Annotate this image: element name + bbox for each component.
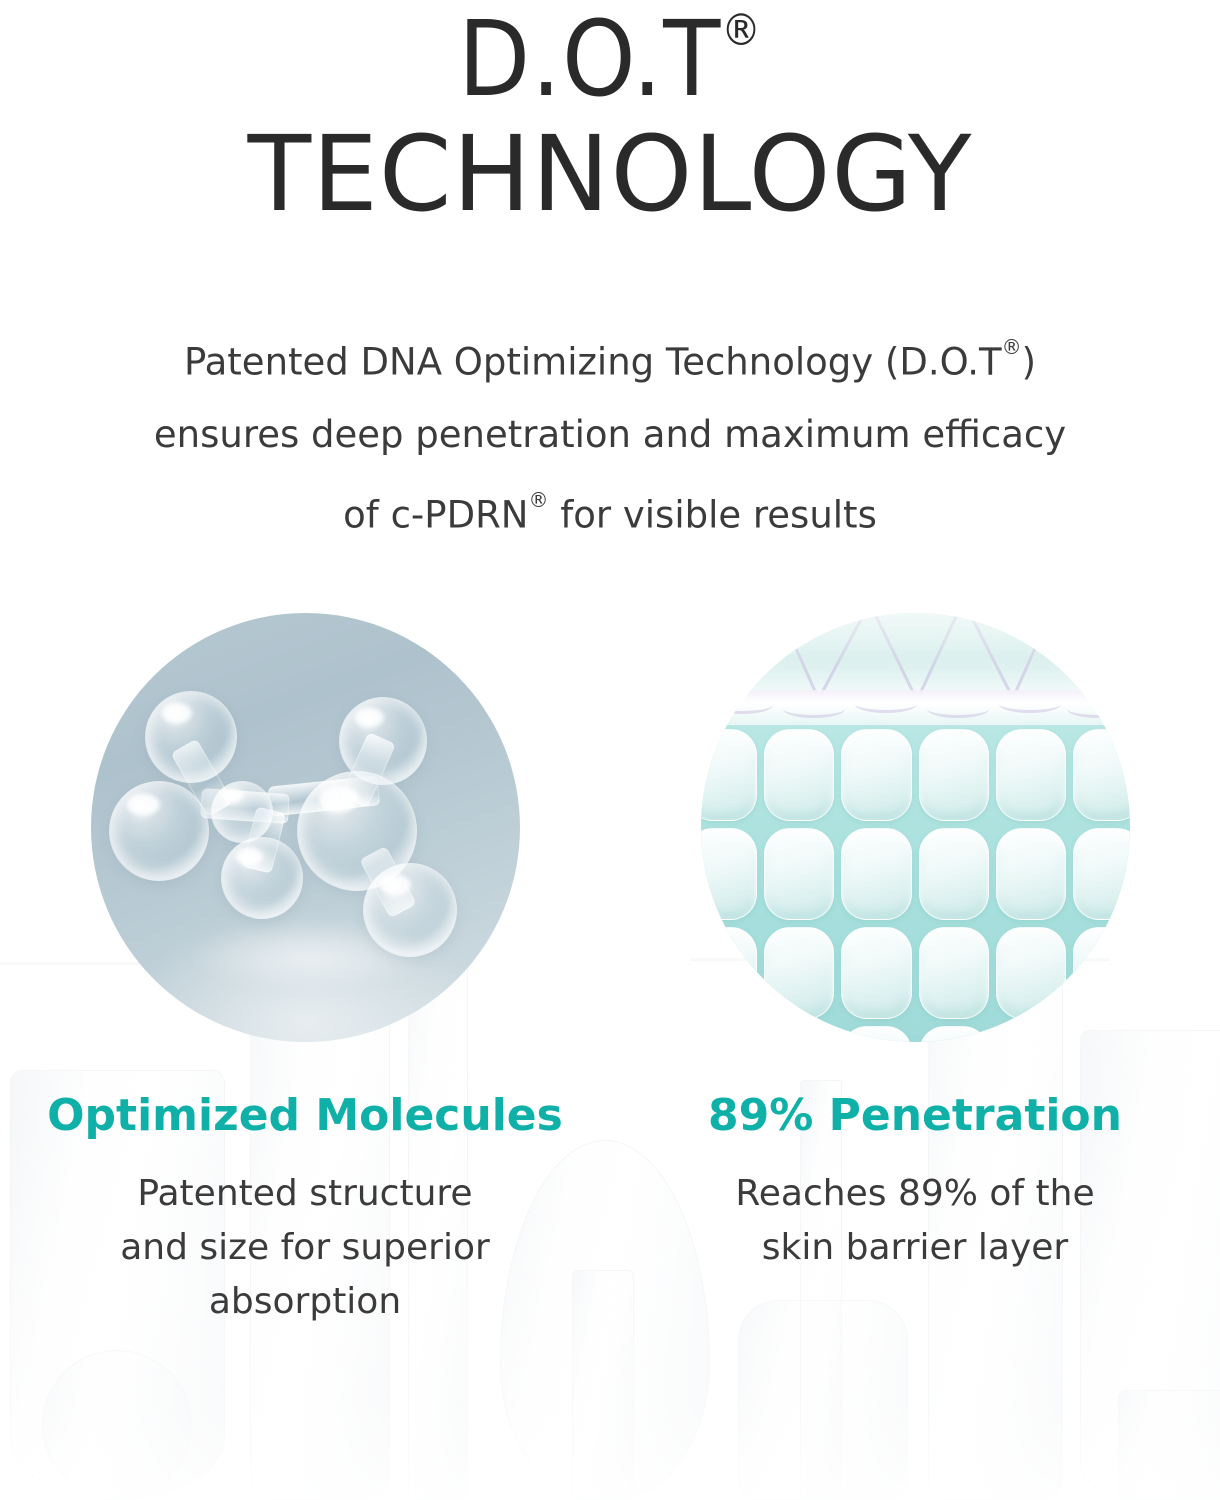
erlenmeyer-flask-neck <box>1118 1390 1220 1500</box>
transition-wave <box>999 695 1061 713</box>
feature-caption: Reaches 89% of the skin barrier layer <box>735 1167 1094 1275</box>
skin-cell <box>919 828 989 920</box>
molecule-atom-center-small <box>211 781 273 843</box>
subtitle-line-1-a: Patented DNA Optimizing Technology (D.O.… <box>184 340 1002 383</box>
skin-cell <box>764 927 834 1019</box>
skin-cell <box>1073 927 1130 1019</box>
skin-transition-band <box>701 690 1130 724</box>
skin-cell <box>919 729 989 821</box>
feature-caption: Patented structure and size for superior… <box>120 1167 490 1329</box>
skin-cell <box>764 729 834 821</box>
optimized-molecules-illustration <box>91 613 520 1042</box>
subtitle-line-2: ensures deep penetration and maximum eff… <box>0 398 1220 471</box>
skin-cell <box>1073 729 1130 821</box>
molecule-atom-bottom-right <box>363 863 457 957</box>
feature-columns: Optimized Molecules Patented structure a… <box>0 613 1220 1329</box>
feature-caption-line: absorption <box>120 1275 490 1329</box>
subtitle-paragraph: Patented DNA Optimizing Technology (D.O.… <box>0 318 1220 552</box>
feature-caption-line: Reaches 89% of the <box>735 1167 1094 1221</box>
skin-cell <box>701 828 758 920</box>
feature-caption-line: skin barrier layer <box>735 1221 1094 1275</box>
subtitle-line-1: Patented DNA Optimizing Technology (D.O.… <box>0 318 1220 398</box>
skin-cell <box>841 729 911 821</box>
skin-cell <box>701 729 758 821</box>
molecule-atom-left <box>109 781 209 881</box>
title-line-technology: TECHNOLOGY <box>0 118 1220 230</box>
feature-penetration: 89% Penetration Reaches 89% of the skin … <box>610 613 1220 1329</box>
skin-cell <box>996 729 1066 821</box>
skin-cell <box>1073 1026 1130 1042</box>
subtitle-line-3-a: of c-PDRN <box>343 494 528 537</box>
skin-cell <box>701 927 758 1019</box>
skin-cell <box>919 1026 989 1042</box>
feature-heading: 89% Penetration <box>708 1090 1122 1142</box>
title-line-dot: D.O.T® <box>0 0 1220 118</box>
transition-wave <box>927 700 989 718</box>
registered-mark-icon: ® <box>721 5 762 56</box>
page-title: D.O.T® TECHNOLOGY <box>0 0 1220 230</box>
subtitle-line-3-b: for visible results <box>548 494 876 537</box>
feature-caption-line: Patented structure <box>120 1167 490 1221</box>
molecule-atom-top-left <box>145 691 237 783</box>
skin-cell <box>701 1026 758 1042</box>
title-dot-text: D.O.T <box>458 0 721 120</box>
feature-caption-line: and size for superior <box>120 1221 490 1275</box>
beaker-1-bulb <box>42 1350 192 1500</box>
skin-cell <box>841 927 911 1019</box>
skin-cell <box>841 828 911 920</box>
skin-cell <box>996 1026 1066 1042</box>
skin-top-highlight <box>701 613 1130 673</box>
feature-heading: Optimized Molecules <box>47 1090 563 1142</box>
feature-optimized-molecules: Optimized Molecules Patented structure a… <box>0 613 610 1329</box>
skin-cell <box>764 828 834 920</box>
skin-cell-grid <box>701 725 1130 1042</box>
skin-cell <box>996 828 1066 920</box>
skin-cell <box>841 1026 911 1042</box>
molecule-atom-bottom-center <box>221 837 303 919</box>
skin-cell <box>1073 828 1130 920</box>
stoppered-bottle <box>738 1300 908 1500</box>
dot-technology-infographic: D.O.T® TECHNOLOGY Patented DNA Optimizin… <box>0 0 1220 1500</box>
transition-wave <box>783 700 845 718</box>
transition-wave <box>711 696 773 714</box>
subtitle-line-1-b: ) <box>1022 340 1036 383</box>
skin-penetration-illustration <box>701 613 1130 1042</box>
skin-cell <box>919 927 989 1019</box>
subtitle-line-3: of c-PDRN® for visible results <box>0 471 1220 551</box>
skin-cell <box>996 927 1066 1019</box>
transition-wave <box>855 695 917 713</box>
registered-mark-icon: ® <box>528 488 548 512</box>
transition-wave <box>1067 700 1129 718</box>
registered-mark-icon: ® <box>1002 335 1022 359</box>
skin-cell <box>764 1026 834 1042</box>
